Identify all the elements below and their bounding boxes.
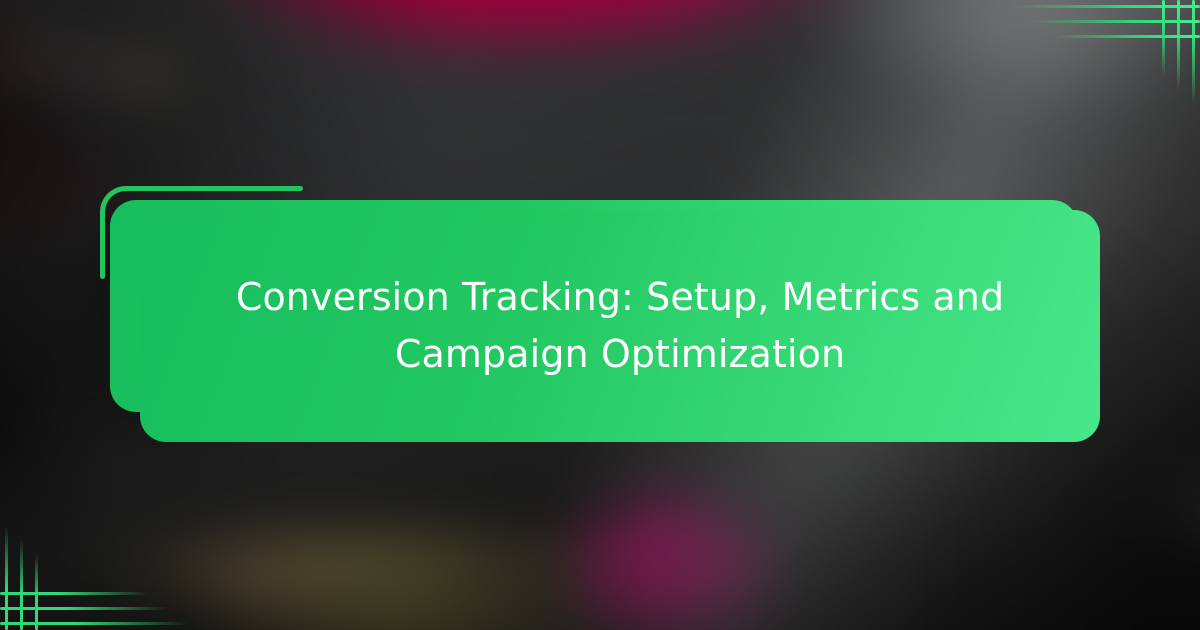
card-front-layer: Conversion Tracking: Setup, Metrics and … <box>140 210 1100 442</box>
page-title: Conversion Tracking: Setup, Metrics and … <box>140 269 1100 383</box>
card-stack: Conversion Tracking: Setup, Metrics and … <box>0 0 1200 630</box>
banner-root: Conversion Tracking: Setup, Metrics and … <box>0 0 1200 630</box>
